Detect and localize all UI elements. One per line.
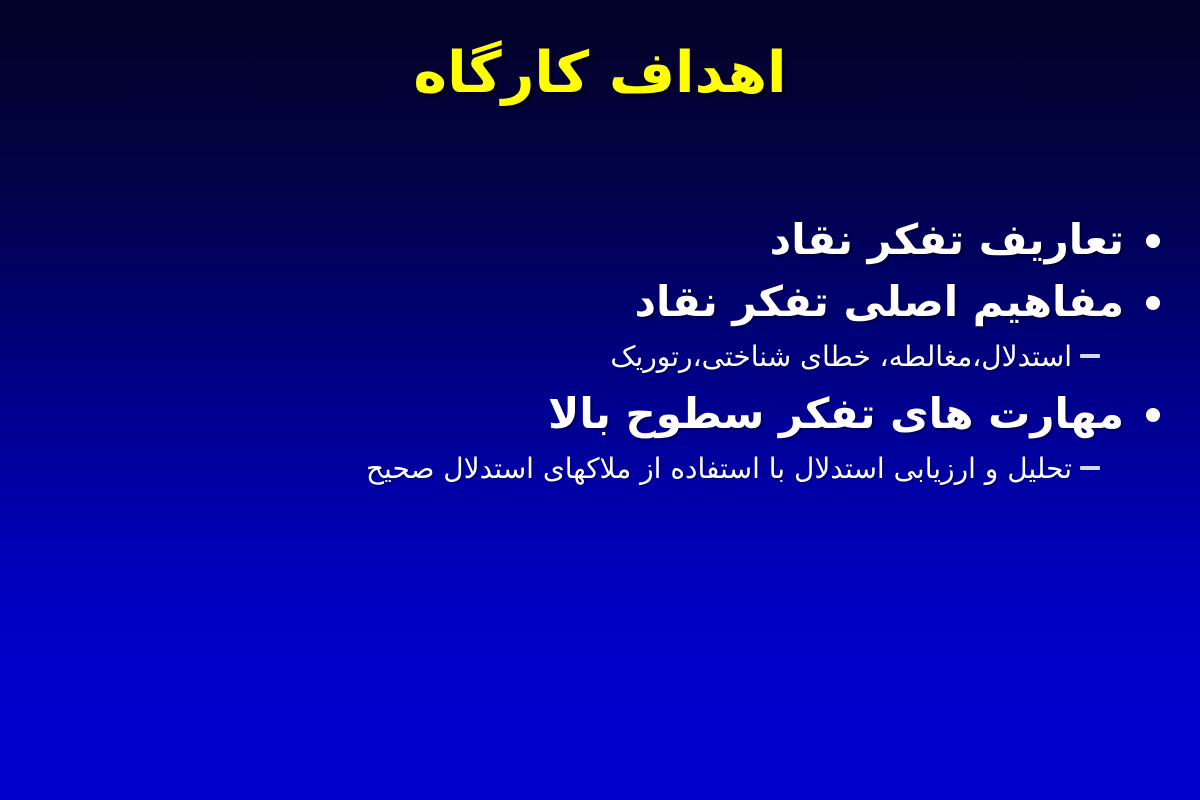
list-item-label: تحلیل و ارزیابی استدلال با استفاده از مل… — [40, 450, 1200, 489]
list-item-label: مهارت های تفکر سطوح بالا — [40, 386, 1200, 442]
dash-bullet-icon — [1080, 354, 1100, 358]
list-item: استدلال،مغالطه، خطای شناختی،رتوریک — [0, 338, 1200, 377]
list-item: تحلیل و ارزیابی استدلال با استفاده از مل… — [0, 450, 1200, 489]
presentation-slide: اهداف کارگاه تعاریف تفکر نقاد مفاهیم اصل… — [0, 0, 1200, 800]
dash-bullet-icon — [1080, 466, 1100, 470]
page-title: اهداف کارگاه — [0, 44, 1200, 104]
list-item: مهارت های تفکر سطوح بالا — [0, 386, 1200, 442]
disc-bullet-icon — [1146, 296, 1160, 310]
list-item-label: تعاریف تفکر نقاد — [40, 212, 1200, 268]
slide-body-content: تعاریف تفکر نقاد مفاهیم اصلی تفکر نقاد ا… — [0, 212, 1200, 491]
list-item-label: مفاهیم اصلی تفکر نقاد — [40, 274, 1200, 330]
list-item: تعاریف تفکر نقاد — [0, 212, 1200, 268]
disc-bullet-icon — [1146, 234, 1160, 248]
list-item-label: استدلال،مغالطه، خطای شناختی،رتوریک — [40, 338, 1200, 377]
list-item: مفاهیم اصلی تفکر نقاد — [0, 274, 1200, 330]
